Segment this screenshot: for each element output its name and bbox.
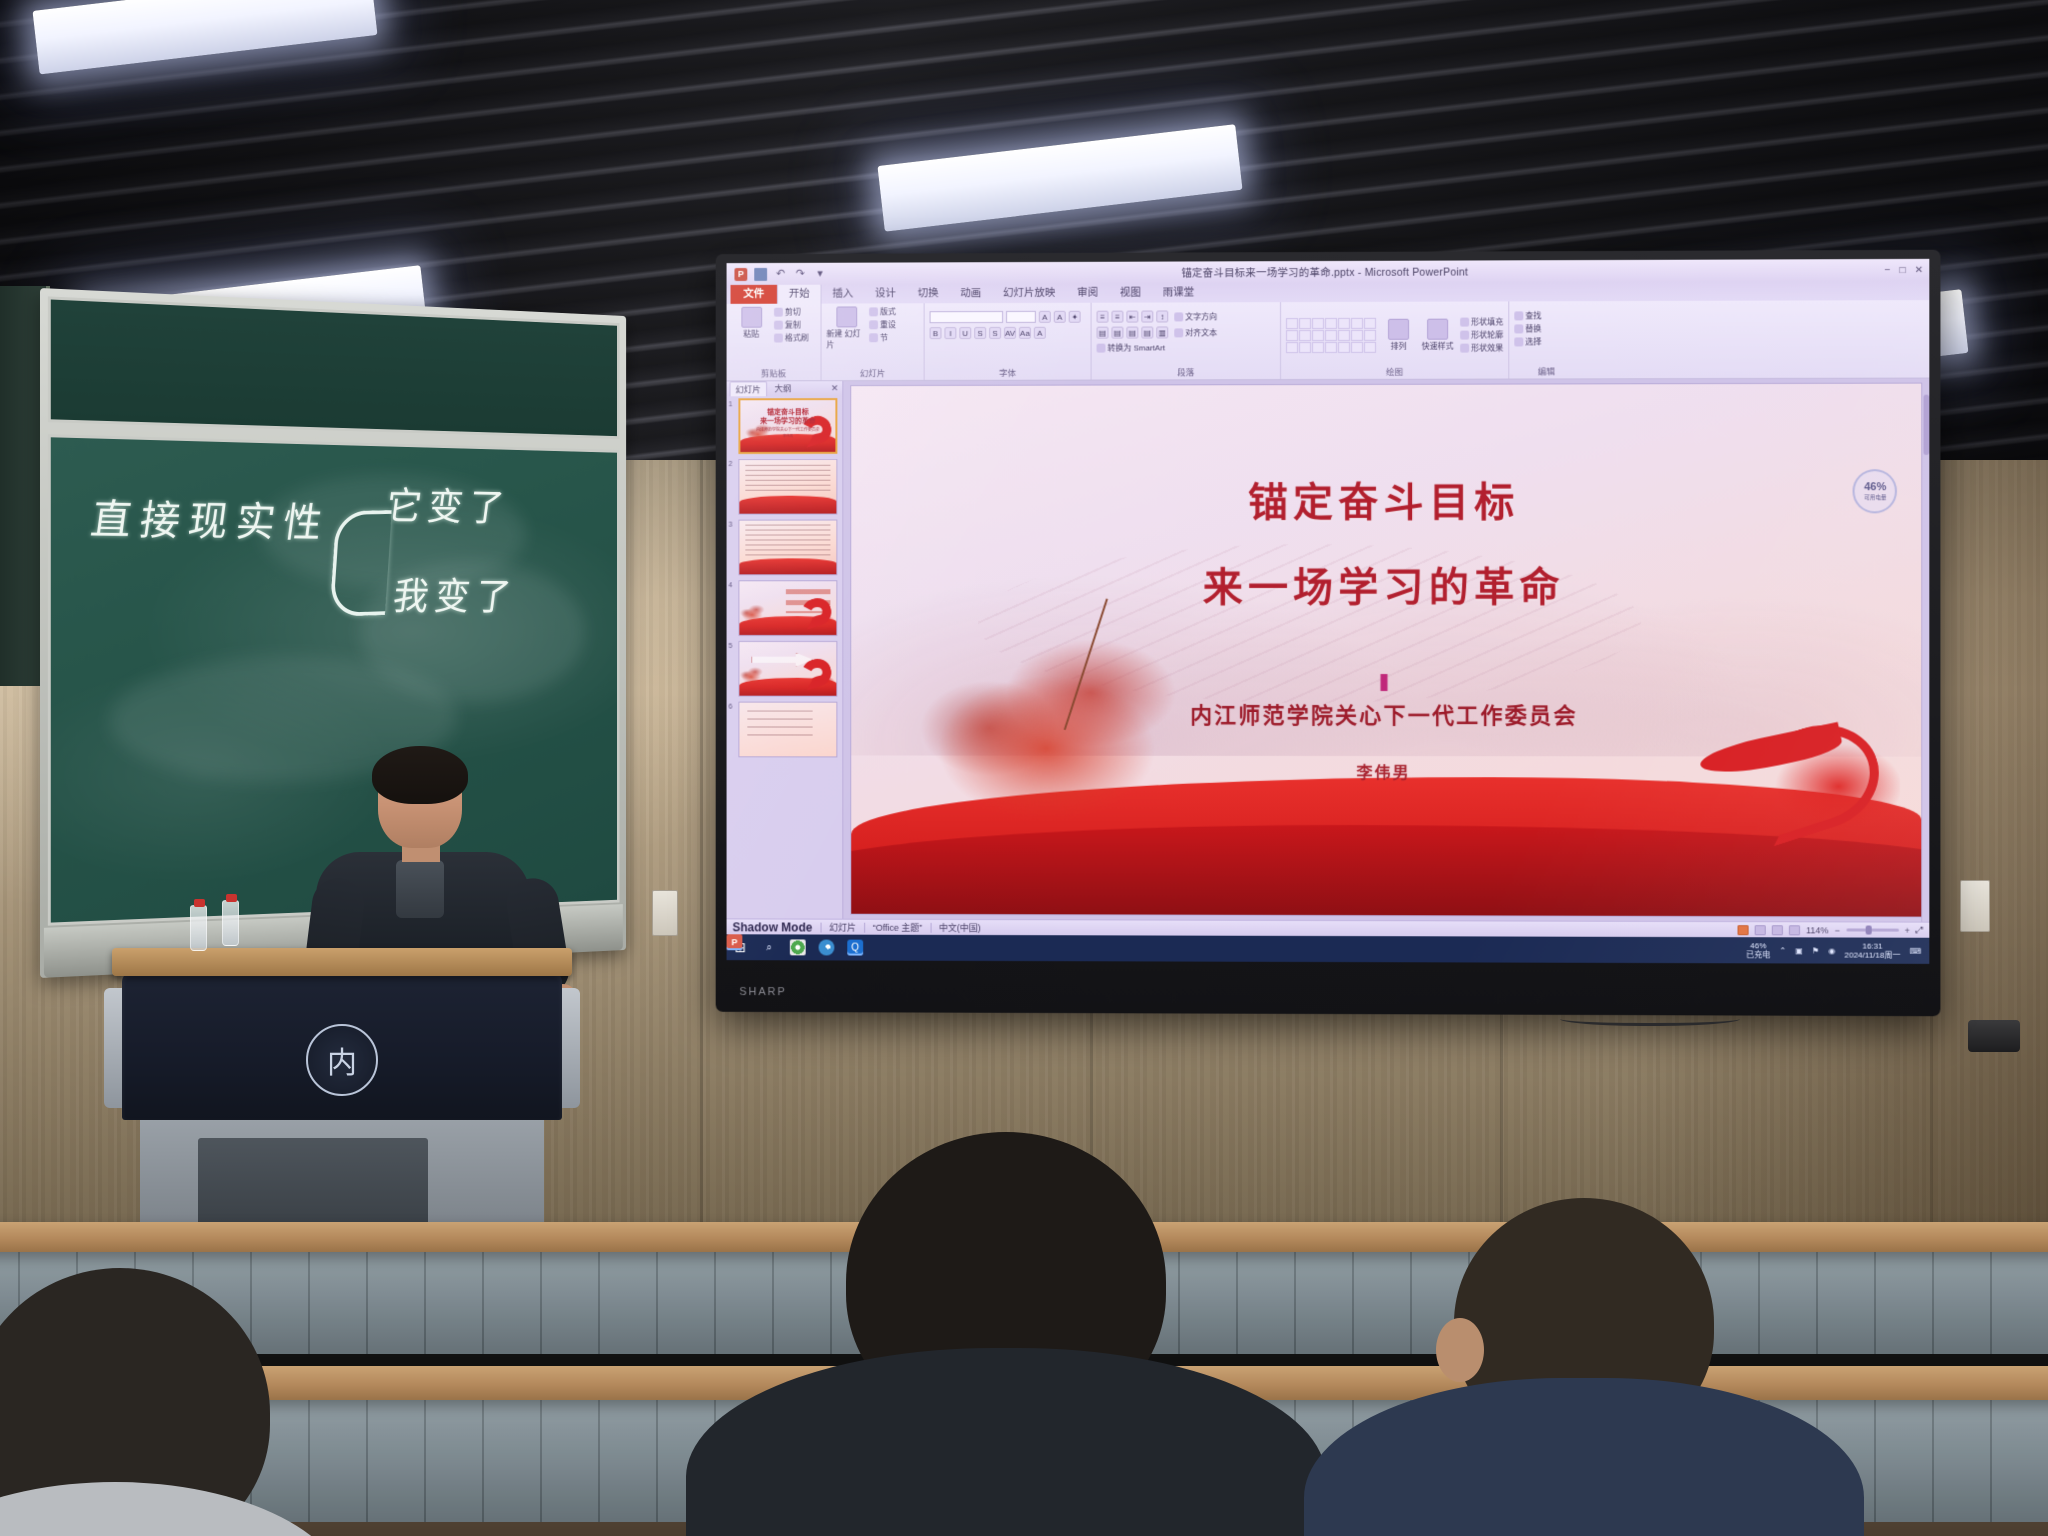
- ribbon-group-editing: 查找 替换 选择 编辑: [1509, 301, 1583, 378]
- reset-icon: [869, 320, 878, 329]
- ribbon-group-paragraph: ≡ ≡ ⇤ ⇥ ↕ 文字方向 ▤ ▤ ▤ ▤: [1092, 302, 1281, 379]
- panel-close-icon[interactable]: ✕: [831, 383, 838, 394]
- bottle-cap: [194, 899, 205, 907]
- volume-icon[interactable]: ◉: [1828, 946, 1835, 955]
- slide-thumbnail-1[interactable]: 锚定奋斗目标 来一场学习的革命 内江师范学院关心下一代工作委员会 李伟男: [738, 398, 837, 454]
- status-divider: [820, 922, 821, 932]
- new-slide-button[interactable]: 新建 幻灯片: [826, 306, 866, 350]
- new-slide-label: 新建 幻灯片: [826, 328, 866, 350]
- audience-head-right: [1454, 1198, 1714, 1448]
- bullets-button[interactable]: ≡: [1097, 311, 1109, 323]
- thumb-number: 3: [729, 522, 733, 529]
- clock-date: 2024/11/18周一: [1844, 951, 1900, 960]
- increase-indent-button[interactable]: ⇥: [1141, 311, 1153, 323]
- shape-brace-left-icon[interactable]: [1338, 342, 1350, 353]
- strikethrough-button[interactable]: S: [989, 327, 1001, 339]
- tab-review[interactable]: 审阅: [1066, 283, 1109, 303]
- status-language[interactable]: 中文(中国): [939, 921, 981, 934]
- panel-tab-slides[interactable]: 幻灯片: [730, 381, 767, 396]
- minimize-icon[interactable]: −: [1885, 265, 1891, 276]
- shape-fill-label: 形状填充: [1471, 316, 1503, 327]
- lectern-control-panel[interactable]: [198, 1138, 428, 1230]
- scrollbar-thumb[interactable]: [1923, 395, 1929, 455]
- group-label-clipboard: 剪贴板: [731, 367, 815, 380]
- change-case-button[interactable]: Aa: [1019, 327, 1031, 339]
- shadow-button[interactable]: S: [974, 327, 986, 339]
- window-title: 锚定奋斗目标来一场学习的革命.pptx - Microsoft PowerPoi…: [727, 262, 1930, 281]
- replace-button[interactable]: 替换: [1514, 323, 1541, 334]
- presenter-shirt: [396, 860, 444, 918]
- align-left-button[interactable]: ▤: [1097, 327, 1109, 339]
- app-name: Microsoft PowerPoint: [1365, 266, 1468, 278]
- shape-square-icon[interactable]: [1286, 330, 1298, 341]
- group-label-editing: 编辑: [1514, 365, 1578, 378]
- group-label-drawing: 绘图: [1286, 366, 1503, 380]
- tab-transitions[interactable]: 切换: [907, 283, 950, 303]
- paintbrush-icon: [774, 334, 783, 343]
- tab-home[interactable]: 开始: [777, 283, 822, 304]
- slide-panel-scrollbar[interactable]: [1921, 393, 1929, 922]
- shape-outline-label: 形状轮廓: [1471, 329, 1503, 340]
- shape-chevron-icon[interactable]: [1325, 342, 1337, 353]
- reset-label: 重设: [880, 319, 896, 330]
- thumb-ribbon: [811, 611, 834, 627]
- shape-effects-icon: [1460, 344, 1469, 353]
- battery-tray-state: 已充电: [1746, 950, 1770, 959]
- group-label-slides: 幻灯片: [826, 367, 918, 380]
- format-painter-button[interactable]: 格式刷: [774, 332, 809, 343]
- thumb-text-lines: [745, 525, 830, 555]
- shape-gallery-more-icon[interactable]: [1364, 330, 1376, 341]
- panel-tab-outline[interactable]: 大纲: [770, 381, 797, 395]
- current-slide[interactable]: 锚定奋斗目标 来一场学习的革命 内江师范学院关心下一代工作委员会 李伟男 46%…: [851, 384, 1921, 917]
- slide-panel-tabs[interactable]: 幻灯片 大纲 ✕: [727, 381, 843, 395]
- shape-rounded-icon[interactable]: [1338, 318, 1350, 329]
- status-slide-indicator: 幻灯片: [829, 921, 856, 934]
- thumb-number: 4: [729, 582, 733, 589]
- presenter-hair: [372, 746, 468, 804]
- search-icon[interactable]: ⌕: [761, 939, 777, 955]
- align-text-label: 对齐文本: [1185, 327, 1217, 338]
- line-spacing-button[interactable]: ↕: [1156, 310, 1168, 322]
- find-label: 查找: [1525, 310, 1541, 321]
- select-label: 选择: [1525, 336, 1541, 347]
- slide-accent-bar: [1380, 674, 1387, 691]
- underline-button[interactable]: U: [959, 327, 971, 339]
- audience-head-center: [846, 1132, 1166, 1432]
- thumb-wave: [739, 558, 836, 574]
- slide-thumbnail-6[interactable]: [738, 702, 837, 758]
- thumb-statue: [738, 661, 766, 684]
- thumb-text-lines: [747, 710, 813, 741]
- zoom-in-button[interactable]: +: [1905, 925, 1910, 935]
- decrease-font-size-button[interactable]: A: [1054, 311, 1066, 323]
- thumb-number: 2: [729, 461, 733, 468]
- edge-icon[interactable]: [819, 940, 835, 956]
- screen-surface: P ↶ ↷ ▾ 锚定奋斗目标来一场学习的革命.pptx - Microsoft …: [727, 259, 1930, 964]
- view-sorter-icon[interactable]: [1755, 925, 1766, 935]
- paste-button[interactable]: 粘贴: [731, 307, 771, 340]
- maximize-icon[interactable]: □: [1900, 264, 1906, 275]
- network-icon[interactable]: ▣: [1795, 946, 1803, 955]
- hdmi-cable: [1560, 1012, 1740, 1026]
- shape-effects-button[interactable]: 形状效果: [1460, 343, 1503, 354]
- notification-icon[interactable]: ⌨: [1910, 946, 1922, 955]
- battery-overlay-badge: 46% 可用电量: [1853, 469, 1897, 513]
- slide-title-line1: 锚定奋斗目标: [851, 469, 1921, 528]
- bottle-cap: [226, 894, 237, 902]
- shape-freeform-icon[interactable]: [1299, 342, 1311, 353]
- clock[interactable]: 16:31 2024/11/18周一: [1844, 941, 1900, 960]
- shape-scroll-icon[interactable]: [1364, 342, 1376, 353]
- tab-animations[interactable]: 动画: [949, 283, 992, 303]
- shape-textbox-icon[interactable]: [1299, 318, 1311, 329]
- status-mode: Shadow Mode: [732, 920, 812, 934]
- powerpoint-taskbar-icon[interactable]: P: [727, 934, 743, 950]
- status-right-cluster[interactable]: 114% − + ⤢: [1737, 924, 1923, 936]
- search-icon: [1514, 311, 1523, 320]
- battery-label: 可用电量: [1864, 493, 1886, 501]
- layout-icon: [869, 307, 878, 316]
- font-name-input[interactable]: [930, 311, 1003, 323]
- paste-icon: [741, 307, 762, 328]
- tab-design[interactable]: 设计: [864, 283, 907, 303]
- columns-button[interactable]: ▥: [1156, 326, 1168, 338]
- tab-view[interactable]: 视图: [1109, 283, 1152, 303]
- fit-to-window-button[interactable]: ⤢: [1916, 925, 1923, 936]
- thumb-title-2: 来一场学习的革命: [740, 416, 835, 426]
- shape-bent-icon[interactable]: [1325, 330, 1337, 341]
- shape-outline-icon: [1460, 331, 1469, 340]
- blackboard-text-left: 直接现实性: [88, 486, 335, 549]
- zoom-slider[interactable]: [1846, 928, 1899, 931]
- slide-thumbnail-2[interactable]: [738, 459, 837, 515]
- wall-speaker: [1968, 1020, 2020, 1052]
- reset-button[interactable]: 重设: [869, 319, 896, 330]
- shape-oval-icon[interactable]: [1351, 318, 1363, 329]
- shape-more-icon[interactable]: [1364, 318, 1376, 329]
- section-button[interactable]: 节: [869, 332, 896, 343]
- decrease-indent-button[interactable]: ⇤: [1126, 311, 1138, 323]
- cut-label: 剪切: [785, 307, 801, 318]
- status-theme: “Office 主题”: [873, 921, 922, 934]
- align-text-icon: [1174, 328, 1183, 337]
- lectern-front-panel: 内: [122, 972, 562, 1120]
- ppt-title-bar: P ↶ ↷ ▾ 锚定奋斗目标来一场学习的革命.pptx - Microsoft …: [727, 259, 1930, 285]
- chrome-icon[interactable]: [790, 939, 806, 955]
- copy-label: 复制: [785, 320, 801, 331]
- battery-percent: 46%: [1864, 481, 1886, 493]
- replace-icon: [1514, 324, 1523, 333]
- shape-triangle-icon[interactable]: [1299, 330, 1311, 341]
- view-slideshow-icon[interactable]: [1789, 925, 1800, 935]
- select-icon: [1514, 337, 1523, 346]
- shape-fill-button[interactable]: 形状填充: [1460, 316, 1503, 327]
- display-screen: P ↶ ↷ ▾ 锚定奋斗目标来一场学习的革命.pptx - Microsoft …: [716, 250, 1941, 1016]
- smartart-label: 转换为 SmartArt: [1107, 342, 1165, 353]
- thumb-org: 内江师范学院关心下一代工作委员会: [740, 427, 835, 433]
- layout-label: 版式: [880, 306, 896, 317]
- slide-thumbnail-list[interactable]: 1 锚定奋斗目标 来一场学习的革命 内江师范学院关心下一代工作委员会 李伟男: [727, 395, 843, 919]
- lectern-desktop: [112, 948, 572, 976]
- shape-elbow-icon[interactable]: [1312, 330, 1324, 341]
- italic-button[interactable]: I: [944, 327, 956, 339]
- layout-button[interactable]: 版式: [869, 306, 896, 317]
- text-direction-icon: [1174, 312, 1183, 321]
- document-title: 锚定奋斗目标来一场学习的革命.pptx: [1181, 266, 1354, 279]
- battery-tray-indicator[interactable]: 46% 已充电: [1746, 941, 1770, 960]
- convert-to-smartart-button[interactable]: 转换为 SmartArt: [1097, 342, 1166, 353]
- group-label-paragraph: 段落: [1097, 366, 1275, 379]
- ribbon-group-font: A A ✦ B I U S S AV Aa: [925, 303, 1092, 380]
- ime-icon[interactable]: ⚑: [1812, 946, 1819, 955]
- quick-styles-icon: [1427, 319, 1448, 340]
- powerpoint-window: P ↶ ↷ ▾ 锚定奋斗目标来一场学习的革命.pptx - Microsoft …: [727, 259, 1930, 964]
- slide-thumbnail-4[interactable]: [738, 580, 837, 636]
- format-painter-label: 格式刷: [785, 332, 809, 343]
- thumb-number: 1: [729, 401, 733, 408]
- qq-icon[interactable]: Q: [847, 940, 863, 956]
- new-slide-icon: [836, 306, 857, 327]
- ribbon-group-drawing: 排列 快速样式 形状填充 形状轮廓 形状效果: [1281, 301, 1509, 379]
- slide-thumbnail-panel[interactable]: 幻灯片 大纲 ✕ 1 锚定奋斗目标: [727, 381, 844, 919]
- close-icon[interactable]: ✕: [1915, 264, 1923, 275]
- water-bottle[interactable]: [190, 905, 207, 951]
- thumb-wave: [739, 495, 836, 513]
- window-controls[interactable]: − □ ✕: [1885, 264, 1924, 275]
- thumb-number: 5: [729, 643, 733, 650]
- audience-ear: [1436, 1318, 1484, 1382]
- thumb-author: 李伟男: [740, 434, 835, 439]
- font-color-button[interactable]: A: [1034, 327, 1046, 339]
- text-direction-button[interactable]: 文字方向: [1174, 311, 1217, 322]
- shape-line-icon[interactable]: [1312, 318, 1324, 329]
- zoom-slider-handle[interactable]: [1865, 925, 1871, 934]
- clock-time: 16:31: [1862, 941, 1882, 950]
- system-tray[interactable]: 46% 已充电 ⌃ ▣ ⚑ ◉ 16:31 2024/11/18周一 ⌨: [1746, 941, 1921, 960]
- battery-tray-percent: 46%: [1750, 941, 1766, 950]
- slide-thumbnail-5[interactable]: [738, 641, 837, 697]
- align-center-button[interactable]: ▤: [1111, 327, 1123, 339]
- tab-slideshow[interactable]: 幻灯片放映: [992, 283, 1066, 303]
- wall-panel[interactable]: [1960, 880, 1990, 932]
- justify-button[interactable]: ▤: [1141, 327, 1153, 339]
- ribbon-group-clipboard: 粘贴 剪切 复制 格式刷 剪贴板: [727, 304, 822, 381]
- shape-effects-label: 形状效果: [1471, 343, 1503, 354]
- blackboard-text-right-bottom: 我变了: [390, 566, 520, 621]
- view-reading-icon[interactable]: [1772, 925, 1783, 935]
- select-button[interactable]: 选择: [1514, 336, 1541, 347]
- font-size-input[interactable]: [1006, 311, 1036, 323]
- shape-rect-icon[interactable]: [1286, 318, 1298, 329]
- ribbon: 粘贴 剪切 复制 格式刷 剪贴板: [727, 300, 1930, 381]
- slide-thumbnail-3[interactable]: [738, 520, 837, 576]
- shapes-gallery[interactable]: [1286, 318, 1376, 353]
- arrange-icon: [1388, 319, 1409, 340]
- slide-title-line2: 来一场学习的革命: [851, 554, 1921, 613]
- copy-button[interactable]: 复制: [774, 320, 809, 331]
- shape-arrow-icon[interactable]: [1325, 318, 1337, 329]
- scissors-icon: [774, 308, 783, 317]
- thumb-ribbon: [811, 672, 834, 688]
- shape-arc-icon[interactable]: [1286, 342, 1298, 353]
- shape-curve-icon[interactable]: [1312, 342, 1324, 353]
- status-divider: [930, 922, 931, 932]
- ribbon-group-slides: 新建 幻灯片 版式 重设 节 幻灯片: [822, 303, 925, 380]
- shape-block-arrow-icon[interactable]: [1338, 330, 1350, 341]
- wall-outlet[interactable]: [652, 890, 678, 936]
- slide-canvas[interactable]: 锚定奋斗目标 来一场学习的革命 内江师范学院关心下一代工作委员会 李伟男 46%…: [843, 379, 1929, 922]
- chevron-up-icon[interactable]: ⌃: [1779, 946, 1786, 955]
- copy-icon: [774, 321, 783, 330]
- water-bottle[interactable]: [222, 900, 239, 946]
- thumb-statue: [738, 598, 768, 622]
- shape-down-arrow-icon[interactable]: [1351, 330, 1363, 341]
- shape-brace-right-icon[interactable]: [1351, 342, 1363, 353]
- align-text-button[interactable]: 对齐文本: [1174, 327, 1217, 338]
- tab-file[interactable]: 文件: [731, 283, 777, 304]
- zoom-out-button[interactable]: −: [1835, 925, 1840, 935]
- slide-organization: 内江师范学院关心下一代工作委员会: [851, 697, 1921, 730]
- section-icon: [869, 333, 878, 342]
- bold-button[interactable]: B: [930, 327, 942, 339]
- quick-styles-label: 快速样式: [1422, 341, 1454, 352]
- ppt-work-area: 幻灯片 大纲 ✕ 1 锚定奋斗目标: [727, 379, 1930, 922]
- group-label-font: 字体: [930, 367, 1086, 380]
- paste-label: 粘贴: [743, 329, 759, 340]
- status-divider: [864, 922, 865, 932]
- quick-styles-button[interactable]: 快速样式: [1421, 319, 1454, 352]
- thumb-text-lines: [745, 465, 830, 492]
- clear-formatting-button[interactable]: ✦: [1069, 311, 1081, 323]
- tab-insert[interactable]: 插入: [822, 284, 865, 304]
- windows-taskbar[interactable]: ⊞ ⌕ Q P 46% 已充电 ⌃ ▣ ⚑ ◉: [727, 934, 1930, 964]
- replace-label: 替换: [1525, 323, 1541, 334]
- thumb-number: 6: [729, 704, 733, 711]
- slide-author: 李伟男: [851, 758, 1921, 783]
- shape-fill-icon: [1460, 318, 1469, 327]
- character-spacing-button[interactable]: AV: [1004, 327, 1016, 339]
- blackboard-text-right-top: 它变了: [383, 475, 513, 532]
- section-label: 节: [880, 332, 888, 343]
- find-button[interactable]: 查找: [1514, 310, 1541, 321]
- align-right-button[interactable]: ▤: [1126, 327, 1138, 339]
- shape-outline-button[interactable]: 形状轮廓: [1460, 329, 1503, 340]
- view-normal-icon[interactable]: [1737, 925, 1748, 935]
- smartart-icon: [1097, 344, 1106, 353]
- lecture-hall-photo: 直接现实性 它变了 我变了 P ↶ ↷ ▾ 锚: [0, 0, 2048, 1536]
- tab-rain-classroom[interactable]: 雨课堂: [1152, 282, 1205, 302]
- increase-font-size-button[interactable]: A: [1039, 311, 1051, 323]
- arrange-label: 排列: [1391, 341, 1407, 352]
- text-direction-label: 文字方向: [1185, 311, 1217, 322]
- zoom-level: 114%: [1806, 925, 1829, 935]
- tv-brand-label: SHARP: [739, 986, 786, 998]
- arrange-button[interactable]: 排列: [1382, 319, 1415, 352]
- cut-button[interactable]: 剪切: [774, 307, 809, 318]
- numbering-button[interactable]: ≡: [1111, 311, 1123, 323]
- university-emblem: 内: [306, 1024, 378, 1096]
- title-separator: -: [1358, 266, 1362, 278]
